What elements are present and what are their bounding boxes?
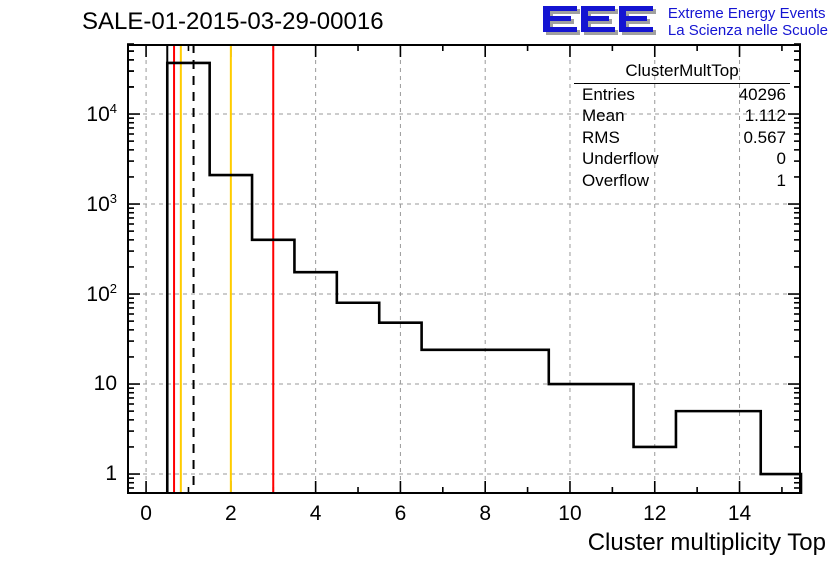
stats-row-key: Entries bbox=[582, 84, 635, 106]
stats-row: RMS0.567 bbox=[574, 127, 790, 149]
stats-row-value: 1.112 bbox=[745, 105, 786, 127]
stats-row-value: 40296 bbox=[739, 84, 786, 106]
x-axis-title: Cluster multiplicity Top bbox=[588, 529, 826, 557]
x-tick-label: 10 bbox=[558, 502, 581, 526]
y-tick-label: 1 bbox=[105, 462, 117, 486]
x-tick-label: 8 bbox=[479, 502, 491, 526]
y-tick-label: 10 bbox=[94, 372, 117, 396]
stats-row-value: 0.567 bbox=[743, 127, 786, 149]
stats-row-key: Overflow bbox=[582, 170, 649, 192]
stats-row: Underflow0 bbox=[574, 148, 790, 170]
stats-row: Mean1.112 bbox=[574, 105, 790, 127]
stats-row-value: 0 bbox=[777, 148, 786, 170]
x-tick-label: 6 bbox=[395, 502, 407, 526]
y-tick-label: 103 bbox=[86, 191, 117, 217]
y-tick-label: 102 bbox=[86, 281, 117, 307]
stats-row-key: RMS bbox=[582, 127, 620, 149]
stats-rows: Entries40296Mean1.112RMS0.567Underflow0O… bbox=[574, 84, 790, 192]
stats-title: ClusterMultTop bbox=[574, 60, 790, 84]
root-canvas: SALE-01-2015-03-29-00016 bbox=[0, 0, 836, 572]
stats-row-key: Mean bbox=[582, 105, 625, 127]
x-tick-label: 14 bbox=[728, 502, 751, 526]
y-tick-label: 104 bbox=[86, 101, 117, 127]
x-tick-label: 4 bbox=[310, 502, 322, 526]
x-tick-label: 12 bbox=[643, 502, 666, 526]
stats-row-key: Underflow bbox=[582, 148, 659, 170]
x-tick-label: 0 bbox=[140, 502, 152, 526]
stats-row: Entries40296 bbox=[574, 84, 790, 106]
stats-box: ClusterMultTop Entries40296Mean1.112RMS0… bbox=[574, 60, 790, 191]
stats-row-value: 1 bbox=[777, 170, 786, 192]
x-tick-label: 2 bbox=[225, 502, 237, 526]
stats-row: Overflow1 bbox=[574, 170, 790, 192]
